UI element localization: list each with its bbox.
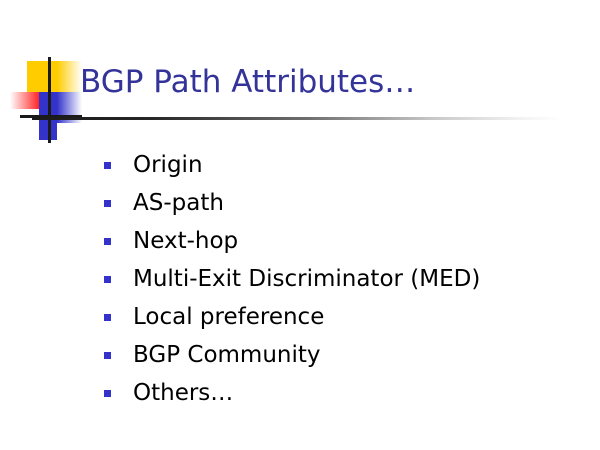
square-bullet-icon (104, 238, 111, 245)
list-item-label: Others… (133, 380, 233, 407)
bullet-list: Origin AS-path Next-hop Multi-Exit Discr… (104, 146, 574, 412)
list-item-label: Multi-Exit Discriminator (MED) (133, 266, 480, 293)
list-item: Others… (104, 374, 574, 412)
list-item-label: BGP Community (133, 342, 321, 369)
list-item-label: Origin (133, 152, 203, 179)
logo-yellow-gradient (57, 61, 82, 92)
square-bullet-icon (104, 200, 111, 207)
list-item: AS-path (104, 184, 574, 222)
list-item-label: AS-path (133, 190, 224, 217)
list-item: BGP Community (104, 336, 574, 374)
page-title: BGP Path Attributes… (80, 64, 415, 100)
presentation-slide: BGP Path Attributes… Origin AS-path Next… (0, 0, 600, 450)
logo-vertical-line (48, 57, 51, 143)
square-bullet-icon (104, 390, 111, 397)
list-item: Next-hop (104, 222, 574, 260)
square-bullet-icon (104, 162, 111, 169)
list-item: Multi-Exit Discriminator (MED) (104, 260, 574, 298)
square-bullet-icon (104, 352, 111, 359)
title-divider (32, 117, 562, 120)
square-bullet-icon (104, 276, 111, 283)
list-item-label: Local preference (133, 304, 324, 331)
list-item: Local preference (104, 298, 574, 336)
list-item-label: Next-hop (133, 228, 238, 255)
slide-decoration-logo (10, 54, 82, 146)
logo-yellow-square (27, 61, 57, 92)
square-bullet-icon (104, 314, 111, 321)
list-item: Origin (104, 146, 574, 184)
